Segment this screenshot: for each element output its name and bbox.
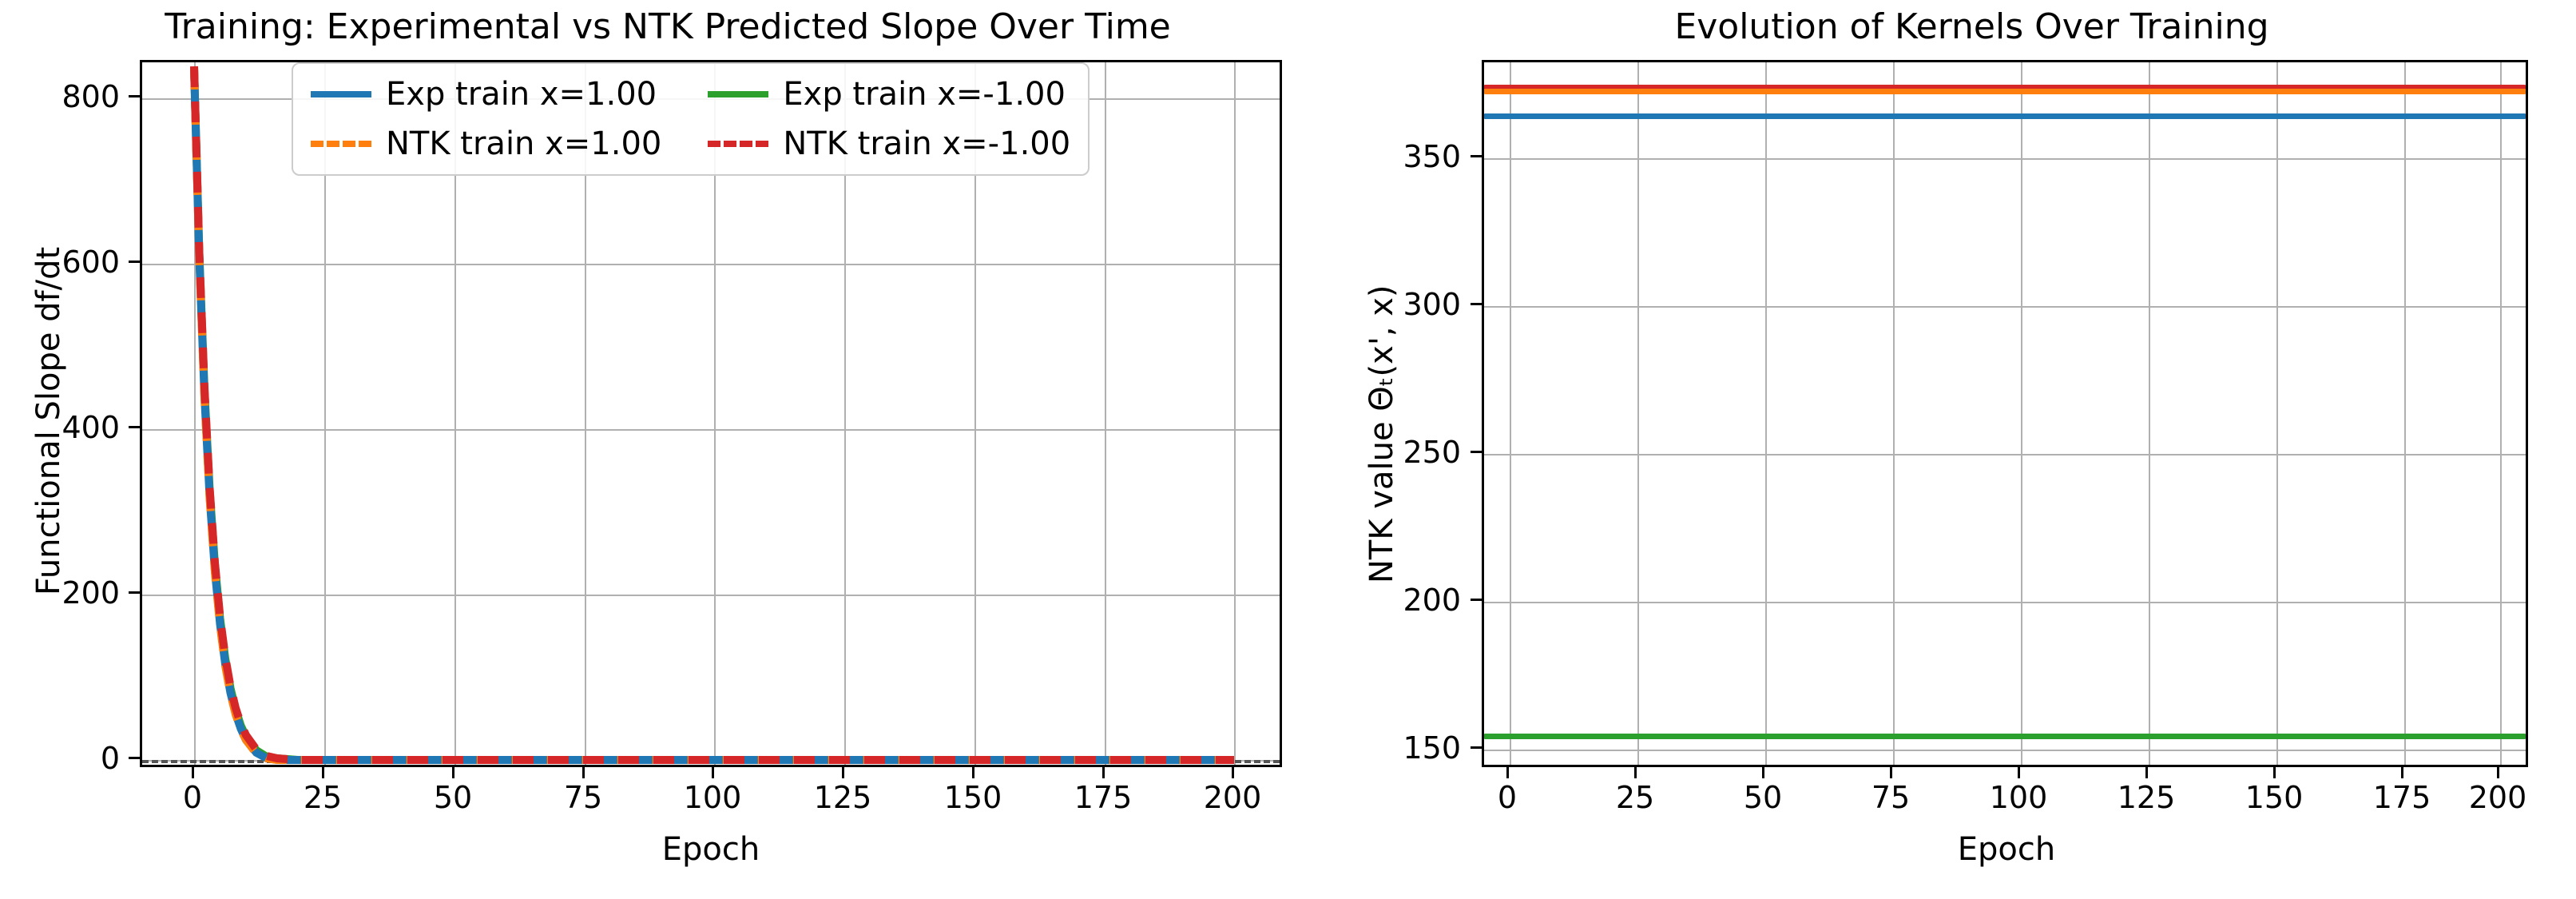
gridline-v <box>2021 62 2022 765</box>
legend-label: NTK train x=-1.00 <box>783 126 1070 161</box>
xtick-label: 0 <box>183 782 202 813</box>
gridline-h <box>1484 158 2526 160</box>
xtick-mark <box>2497 767 2499 778</box>
xtick-mark <box>452 767 454 778</box>
ytick-mark <box>1471 746 1482 749</box>
xtick-mark <box>2273 767 2276 778</box>
xtick-mark <box>972 767 974 778</box>
xtick-label: 200 <box>1204 782 1262 813</box>
ytick-label: 350 <box>1371 141 1461 173</box>
gridline-h <box>1484 750 2526 751</box>
xtick-mark <box>322 767 324 778</box>
xtick-mark <box>1232 767 1234 778</box>
xtick-mark <box>1634 767 1637 778</box>
legend-entry-ntk-train-x1[interactable]: NTK train x=1.00 <box>311 126 661 161</box>
gridline-v <box>1637 62 1639 765</box>
ytick-label: 200 <box>1371 584 1461 616</box>
legend-entry-exp-train-x1[interactable]: Exp train x=1.00 <box>311 77 661 112</box>
legend-swatch-blue-solid-icon <box>311 91 371 97</box>
left-yaxis-label: Functional Slope df/dt <box>30 247 67 595</box>
ytick-mark <box>1471 599 1482 601</box>
legend-entry-exp-train-xneg1[interactable]: Exp train x=-1.00 <box>708 77 1070 112</box>
xtick-mark <box>2018 767 2020 778</box>
xtick-label: 100 <box>684 782 742 813</box>
gridline-v <box>2149 62 2150 765</box>
gridline-v <box>1510 62 1511 765</box>
xtick-mark <box>842 767 844 778</box>
xtick-label: 125 <box>2118 782 2176 813</box>
left-plot-legend[interactable]: Exp train x=1.00 Exp train x=-1.00 NTK t… <box>292 62 1090 176</box>
gridline-v <box>2500 62 2502 765</box>
xtick-mark <box>192 767 194 778</box>
gridline-v <box>1893 62 1895 765</box>
right-xaxis-label: Epoch <box>1958 831 2055 868</box>
xtick-label: 175 <box>2373 782 2431 813</box>
legend-swatch-orange-dashed-icon <box>311 141 371 147</box>
left-xaxis-label: Epoch <box>662 831 760 868</box>
xtick-label: 0 <box>1498 782 1517 813</box>
xtick-label: 75 <box>1871 782 1910 813</box>
right-panel-title: Evolution of Kernels Over Training <box>1415 6 2528 48</box>
ytick-mark <box>129 261 140 263</box>
kernel-line-orange <box>1484 89 2526 94</box>
kernel-line-green <box>1484 734 2526 739</box>
xtick-label: 100 <box>1990 782 2048 813</box>
ytick-mark <box>129 591 140 594</box>
gridline-v <box>2404 62 2406 765</box>
left-panel-title: Training: Experimental vs NTK Predicted … <box>96 6 1240 48</box>
xtick-label: 150 <box>2245 782 2304 813</box>
panel-right: Evolution of Kernels Over Training <box>1288 0 2576 899</box>
panel-left: Training: Experimental vs NTK Predicted … <box>0 0 1288 899</box>
legend-swatch-green-solid-icon <box>708 91 768 97</box>
right-yaxis-label: NTK value Θₜ(x', x) <box>1363 284 1400 583</box>
right-plot-axes <box>1482 60 2528 767</box>
xtick-label: 25 <box>1616 782 1654 813</box>
gridline-v <box>1765 62 1767 765</box>
ytick-mark <box>1471 155 1482 157</box>
legend-label: Exp train x=1.00 <box>386 77 657 112</box>
figure-canvas: Training: Experimental vs NTK Predicted … <box>0 0 2576 899</box>
xtick-mark <box>2401 767 2403 778</box>
gridline-h <box>1484 454 2526 455</box>
ytick-label: 800 <box>36 81 120 113</box>
xtick-mark <box>582 767 585 778</box>
xtick-mark <box>1890 767 1892 778</box>
xtick-label: 25 <box>304 782 342 813</box>
xtick-label: 125 <box>814 782 872 813</box>
gridline-h <box>1484 306 2526 308</box>
xtick-label: 175 <box>1074 782 1133 813</box>
kernel-line-blue <box>1484 113 2526 119</box>
legend-label: NTK train x=1.00 <box>386 126 661 161</box>
ytick-mark <box>1471 303 1482 305</box>
xtick-mark <box>1102 767 1105 778</box>
ytick-mark <box>129 95 140 97</box>
xtick-mark <box>712 767 714 778</box>
xtick-label: 75 <box>564 782 602 813</box>
xtick-label: 50 <box>434 782 472 813</box>
ytick-mark <box>1471 451 1482 453</box>
xtick-mark <box>1762 767 1764 778</box>
xtick-label: 150 <box>944 782 1002 813</box>
xtick-mark <box>1506 767 1509 778</box>
ytick-label: 0 <box>36 742 120 774</box>
ytick-label: 150 <box>1371 732 1461 764</box>
xtick-label: 200 <box>2469 782 2527 813</box>
gridline-v <box>2276 62 2278 765</box>
legend-swatch-red-dashed-icon <box>708 141 768 147</box>
xtick-mark <box>2145 767 2148 778</box>
xtick-label: 50 <box>1744 782 1782 813</box>
legend-label: Exp train x=-1.00 <box>783 77 1066 112</box>
legend-entry-ntk-train-xneg1[interactable]: NTK train x=-1.00 <box>708 126 1070 161</box>
gridline-h <box>1484 602 2526 603</box>
ytick-mark <box>129 757 140 759</box>
ytick-mark <box>129 426 140 428</box>
